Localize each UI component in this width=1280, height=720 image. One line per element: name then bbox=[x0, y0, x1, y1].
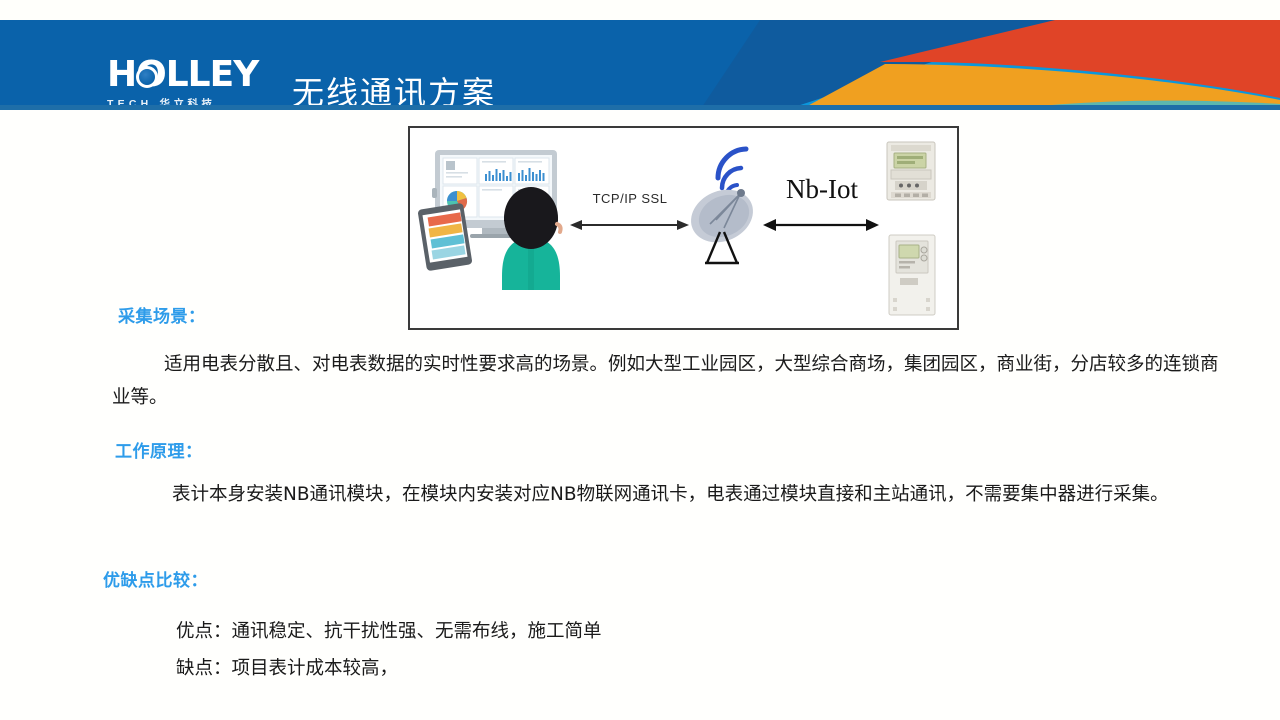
architecture-diagram-figure: TCP/IP SSL bbox=[408, 126, 959, 330]
tcpip-link: TCP/IP SSL bbox=[570, 191, 689, 230]
tablet-illustration bbox=[417, 203, 472, 271]
section-heading-pros-cons: 优缺点比较： bbox=[103, 566, 208, 591]
section-heading-working-principle: 工作原理： bbox=[115, 437, 203, 462]
page-header: HOLLEY TECH 华立科技 无线通讯方案 bbox=[0, 20, 1280, 110]
logo-o-ring-icon bbox=[136, 66, 158, 88]
satellite-dish-illustration bbox=[683, 149, 762, 263]
cons-line: 缺点：项目表计成本较高， bbox=[176, 652, 398, 685]
person-illustration bbox=[502, 187, 561, 290]
section-body-working-principle: 表计本身安装NB通讯模块，在模块内安装对应NB物联网通讯卡，电表通过模块直接和主… bbox=[126, 478, 1216, 511]
header-underline bbox=[0, 105, 1280, 110]
nbiot-link: Nb-Iot bbox=[763, 174, 879, 231]
top-margin-strip bbox=[0, 0, 1280, 20]
page-title: 无线通讯方案 bbox=[292, 68, 496, 110]
svg-text:TCP/IP SSL: TCP/IP SSL bbox=[593, 191, 668, 206]
electricity-meter-top bbox=[887, 142, 935, 200]
section-body-collection-scene: 适用电表分散且、对电表数据的实时性要求高的场景。例如大型工业园区，大型综合商场，… bbox=[112, 348, 1222, 414]
diagram-svg: TCP/IP SSL bbox=[410, 128, 957, 328]
svg-text:Nb-Iot: Nb-Iot bbox=[786, 174, 858, 204]
electricity-meter-bottom bbox=[889, 235, 935, 315]
section-heading-collection-scene: 采集场景： bbox=[118, 302, 206, 327]
logo-wordmark: HOLLEY bbox=[107, 58, 259, 94]
pros-line: 优点：通讯稳定、抗干扰性强、无需布线，施工简单 bbox=[176, 615, 602, 648]
workstation-operator-illustration bbox=[417, 150, 560, 290]
holley-logo: HOLLEY TECH 华立科技 bbox=[107, 58, 259, 110]
